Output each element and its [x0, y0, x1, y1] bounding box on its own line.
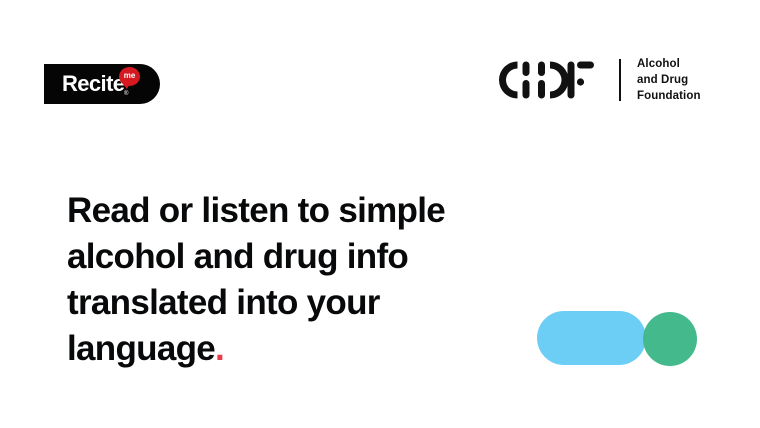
recite-me-wordmark: Recite: [62, 73, 124, 95]
decorative-circle-shape: [643, 312, 697, 366]
decorative-pill-shape: [537, 311, 646, 365]
headline-accent-dot: .: [215, 329, 224, 368]
adf-org-line-3: Foundation: [637, 88, 701, 104]
logo-divider: [619, 59, 621, 101]
headline: Read or listen to simple alcohol and dru…: [67, 188, 537, 372]
adf-org-line-1: Alcohol: [637, 56, 701, 72]
headline-line-4-text: language: [67, 329, 215, 368]
promo-banner: Recite ® me Alc: [0, 0, 760, 428]
recite-me-bubble-label: me: [119, 67, 140, 86]
adf-logo[interactable]: Alcohol and Drug Foundation: [497, 52, 701, 108]
headline-line-3: translated into your: [67, 280, 537, 326]
speech-bubble-icon: me: [119, 67, 140, 86]
headline-line-4: language.: [67, 326, 537, 372]
adf-lettermark-icon: [497, 56, 601, 104]
adf-org-line-2: and Drug: [637, 72, 701, 88]
headline-line-1: Read or listen to simple: [67, 188, 537, 234]
adf-organisation-name: Alcohol and Drug Foundation: [637, 56, 701, 105]
headline-line-2: alcohol and drug info: [67, 234, 537, 280]
registered-trademark-icon: ®: [124, 91, 128, 97]
recite-me-logo[interactable]: Recite ® me: [44, 64, 160, 104]
